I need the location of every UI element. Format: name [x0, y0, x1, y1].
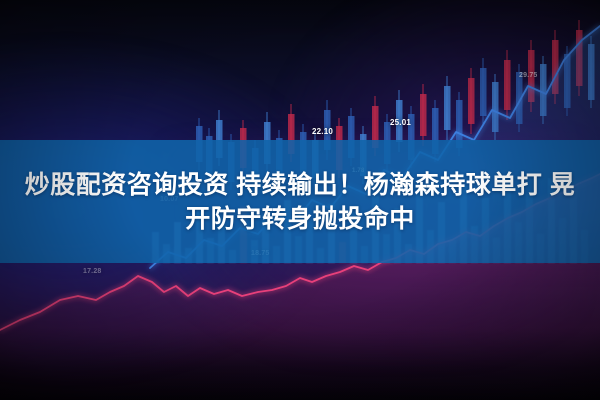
screenshot-root: 22.1025.0129.751.7810.0718.7517.28 炒股配资咨… [0, 0, 600, 400]
headline-line-2: 开防守转身抛投命中 [185, 205, 415, 233]
price-label: 29.75 [519, 72, 538, 79]
price-label: 22.10 [312, 127, 333, 136]
price-label: 25.01 [390, 118, 411, 127]
headline-text-block: 炒股配资咨询投资 持续输出！杨瀚森持球单打 晃 开防守转身抛投命中 [0, 140, 600, 263]
price-label: 17.28 [83, 268, 102, 275]
headline-line-1: 炒股配资咨询投资 持续输出！杨瀚森持球单打 晃 [25, 171, 575, 199]
